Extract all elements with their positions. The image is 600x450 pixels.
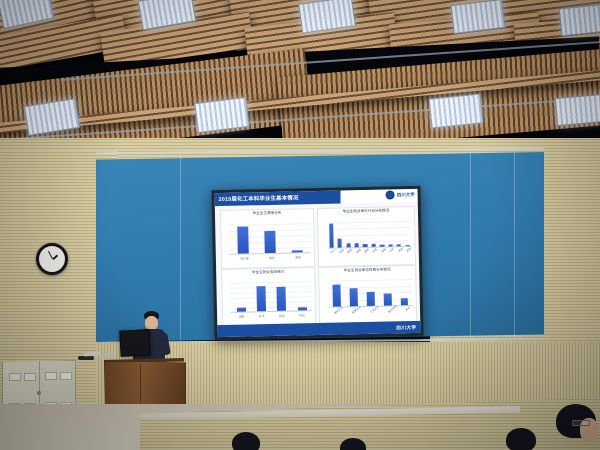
slide-footer-text: 四川大学 <box>396 324 416 330</box>
bar-series <box>327 221 412 248</box>
x-axis-labels: 化工 制造 教育 能源 建筑 信息 金融 科研 医药 其他 <box>327 248 412 265</box>
x-tick-label: 就业 <box>279 313 285 317</box>
university-logo: 四川大学 <box>386 190 415 200</box>
bar <box>264 231 276 253</box>
bar <box>384 294 392 305</box>
x-axis-labels: 出国 升学 就业 待业 <box>231 313 312 323</box>
bar <box>338 239 342 248</box>
chart-bottom-right[interactable]: 毕业生就业单位性质分布情况 国有企业 民营企业 三资企业 <box>318 265 417 324</box>
x-tick-label: 出国 <box>239 314 245 318</box>
ceiling-light-fixture <box>429 93 484 128</box>
x-tick-label: 四川省 <box>240 257 248 261</box>
clock-minute-hand <box>48 251 53 259</box>
bar <box>257 286 266 311</box>
x-tick-label: 升学 <box>259 314 265 318</box>
chart-top-right[interactable]: 毕业生就业单位行业分布情况 <box>317 206 416 267</box>
ceiling-light-fixture <box>555 94 600 126</box>
bar-series <box>229 223 311 254</box>
cabinet-slot-label <box>45 372 57 380</box>
bar <box>367 292 375 305</box>
x-tick-label: 省外 <box>269 256 275 260</box>
cabinet-handle[interactable] <box>37 391 41 395</box>
x-tick-label: 能源 <box>355 248 362 254</box>
panel-seam <box>514 151 515 339</box>
x-tick-label: 教育 <box>346 248 353 254</box>
plot-area <box>328 279 413 307</box>
cabinet-slot-label <box>60 372 72 380</box>
bar <box>292 250 303 253</box>
bar <box>401 298 409 305</box>
bar <box>329 223 334 247</box>
ceiling-light-fixture <box>194 97 249 133</box>
bar <box>237 307 246 311</box>
chart-title: 毕业生就业单位性质分布情况 <box>319 267 415 274</box>
bar <box>298 307 307 310</box>
audience-head <box>232 432 260 450</box>
presentation-slide[interactable]: 2019届化工本科毕业生基本情况 四川大学 毕业生生源地分布 <box>215 189 421 337</box>
chart-title: 毕业生生源地分布 <box>221 210 313 217</box>
x-tick-label: 其他 <box>405 305 412 311</box>
x-tick-label: 待业 <box>299 313 305 317</box>
lecture-hall-photo: 2019届化工本科毕业生基本情况 四川大学 毕业生生源地分布 <box>0 0 600 450</box>
plot-area <box>327 221 412 249</box>
cabinet-slot-label <box>24 373 36 381</box>
x-tick-label: 化工 <box>330 248 337 254</box>
logo-text: 四川大学 <box>397 191 415 197</box>
x-tick-label: 信息 <box>372 247 379 253</box>
chart-title: 毕业生就业去向统计 <box>222 269 314 276</box>
presenter-monitor[interactable] <box>119 329 150 357</box>
wall-clock <box>36 243 68 275</box>
cable-bundle <box>78 356 94 360</box>
chart-title: 毕业生就业单位行业分布情况 <box>318 208 414 215</box>
plot-area <box>231 281 313 312</box>
chart-bottom-left[interactable]: 毕业生就业去向统计 出国 升学 就业 待业 <box>221 267 316 326</box>
audience-glasses-icon <box>572 420 590 426</box>
slide-title: 2019届化工本科毕业生基本情况 <box>219 193 299 203</box>
bar-series <box>328 279 413 306</box>
panel-seam <box>180 156 181 340</box>
x-tick-label: 制造 <box>338 248 345 254</box>
bar <box>350 288 358 306</box>
x-tick-label: 科研 <box>389 247 396 253</box>
bar <box>237 226 249 254</box>
x-tick-label: 医药 <box>397 247 404 253</box>
x-tick-label: 建筑 <box>363 247 370 253</box>
bar-series <box>231 281 313 311</box>
x-tick-label: 金融 <box>380 247 387 253</box>
ceiling-light-fixture <box>559 4 600 37</box>
x-tick-label: 其他 <box>295 256 301 260</box>
presenter-head <box>145 316 158 330</box>
logo-emblem-icon <box>386 190 395 199</box>
panel-seam <box>470 152 471 340</box>
plot-area <box>229 223 311 255</box>
ceiling <box>0 0 600 150</box>
audience-head <box>506 428 536 450</box>
chart-top-left[interactable]: 毕业生生源地分布 四川省 省外 其他 <box>220 208 315 269</box>
clock-hour-hand <box>52 254 58 259</box>
bar <box>277 287 286 311</box>
x-axis-labels: 四川省 省外 其他 <box>230 255 311 266</box>
x-axis-labels: 国有企业 民营企业 三资企业 事业单位 其他 <box>329 307 414 322</box>
x-tick-label: 其他 <box>405 247 412 253</box>
bar <box>333 285 341 306</box>
cabinet-slot-label <box>9 373 21 381</box>
